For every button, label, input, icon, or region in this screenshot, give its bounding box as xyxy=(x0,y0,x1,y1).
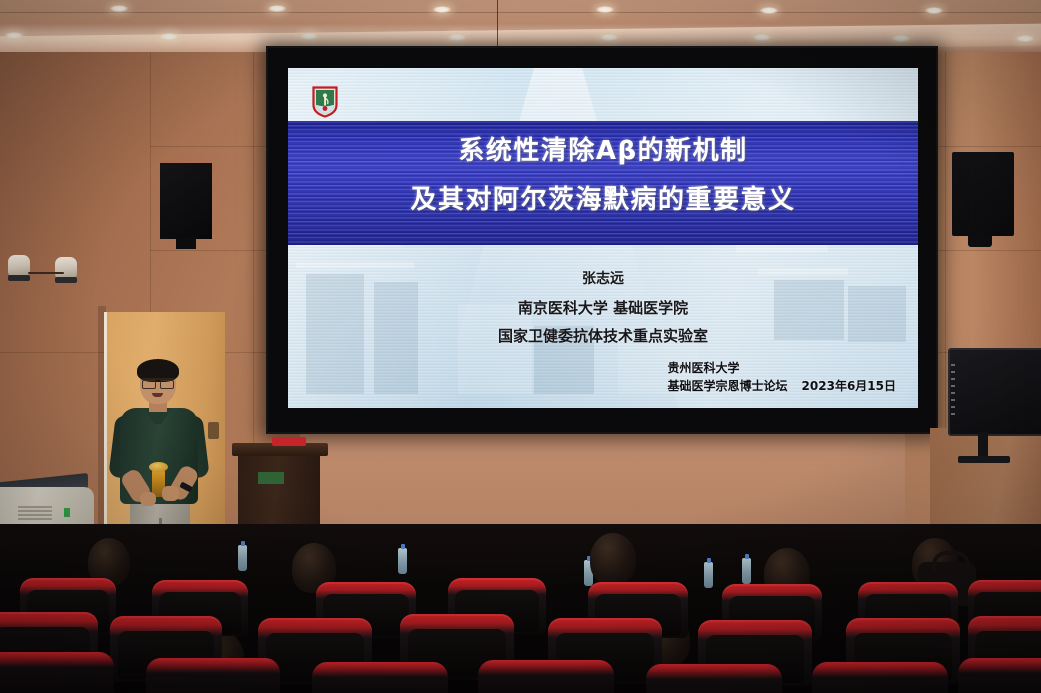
water-bottle xyxy=(398,548,407,574)
wall-speaker-icon xyxy=(952,152,1014,236)
slide-footer: 贵州医科大学 基础医学宗恩博士论坛2023年6月15日 xyxy=(668,359,896,395)
presenter-hand-right xyxy=(162,486,179,501)
auditorium-seat[interactable] xyxy=(312,662,448,693)
slide-author-name: 张志远 xyxy=(288,268,918,288)
monitor-button-strip[interactable] xyxy=(951,364,955,416)
eyeglasses-icon xyxy=(142,378,174,387)
slide-presenter-block: 张志远 南京医科大学 基础医学院 国家卫健委抗体技术重点实验室 xyxy=(288,268,918,353)
slide-affiliation-1: 南京医科大学 基础医学院 xyxy=(288,297,918,318)
slide-title-line-1: 系统性清除Aβ的新机制 xyxy=(288,136,918,166)
water-bottle xyxy=(742,558,751,584)
lectern-display xyxy=(258,472,284,484)
auditorium-seat[interactable] xyxy=(646,664,782,693)
water-bottle xyxy=(704,562,713,588)
console-status-led xyxy=(64,508,70,517)
spotlight-fixture xyxy=(55,257,77,278)
downlight xyxy=(433,6,451,13)
audience-head xyxy=(590,533,636,585)
presenter-hand-left xyxy=(140,492,156,506)
downlight xyxy=(5,32,23,39)
auditorium-seat[interactable] xyxy=(958,658,1041,693)
downlight xyxy=(596,6,614,13)
wall-speaker-icon xyxy=(160,163,212,239)
monitor-stand xyxy=(978,432,988,458)
confidence-monitor[interactable] xyxy=(948,348,1041,436)
downlight xyxy=(892,35,910,42)
lectern-red-item xyxy=(272,437,306,446)
university-shield-emblem xyxy=(312,86,338,118)
spotlight-fixture xyxy=(8,255,30,276)
auditorium-seat[interactable] xyxy=(0,652,114,693)
slide-footer-date: 2023年6月15日 xyxy=(802,379,896,393)
downlight xyxy=(760,7,778,14)
auditorium-seat[interactable] xyxy=(146,658,280,693)
slide-surface: 系统性清除Aβ的新机制 及其对阿尔茨海默病的重要意义 张志远 南京医科大学 基础… xyxy=(288,68,918,408)
slide-footer-org: 贵州医科大学 xyxy=(668,359,896,377)
spotlight-cable xyxy=(28,272,64,274)
downlight xyxy=(925,7,943,14)
auditorium-seat[interactable] xyxy=(812,662,948,693)
water-bottle xyxy=(238,545,247,571)
console-vent xyxy=(18,506,52,522)
downlight xyxy=(600,34,618,41)
downlight xyxy=(753,34,771,41)
downlight xyxy=(160,33,178,40)
auditorium-seat[interactable] xyxy=(478,660,614,693)
downlight xyxy=(268,5,286,12)
slide-title-line-2: 及其对阿尔茨海默病的重要意义 xyxy=(288,185,918,215)
downlight xyxy=(110,5,128,12)
slide-affiliation-2: 国家卫健委抗体技术重点实验室 xyxy=(288,325,918,346)
led-video-wall[interactable]: 系统性清除Aβ的新机制 及其对阿尔茨海默病的重要意义 张志远 南京医科大学 基础… xyxy=(266,46,938,434)
downlight xyxy=(300,33,318,40)
slide-footer-event: 基础医学宗恩博士论坛 xyxy=(668,379,788,393)
ceiling-seam xyxy=(0,12,1041,13)
downlight xyxy=(448,34,466,41)
downlight xyxy=(1016,35,1034,42)
monitor-base xyxy=(958,456,1010,463)
lecture-hall-scene: 系统性清除Aβ的新机制 及其对阿尔茨海默病的重要意义 张志远 南京医科大学 基础… xyxy=(0,0,1041,693)
